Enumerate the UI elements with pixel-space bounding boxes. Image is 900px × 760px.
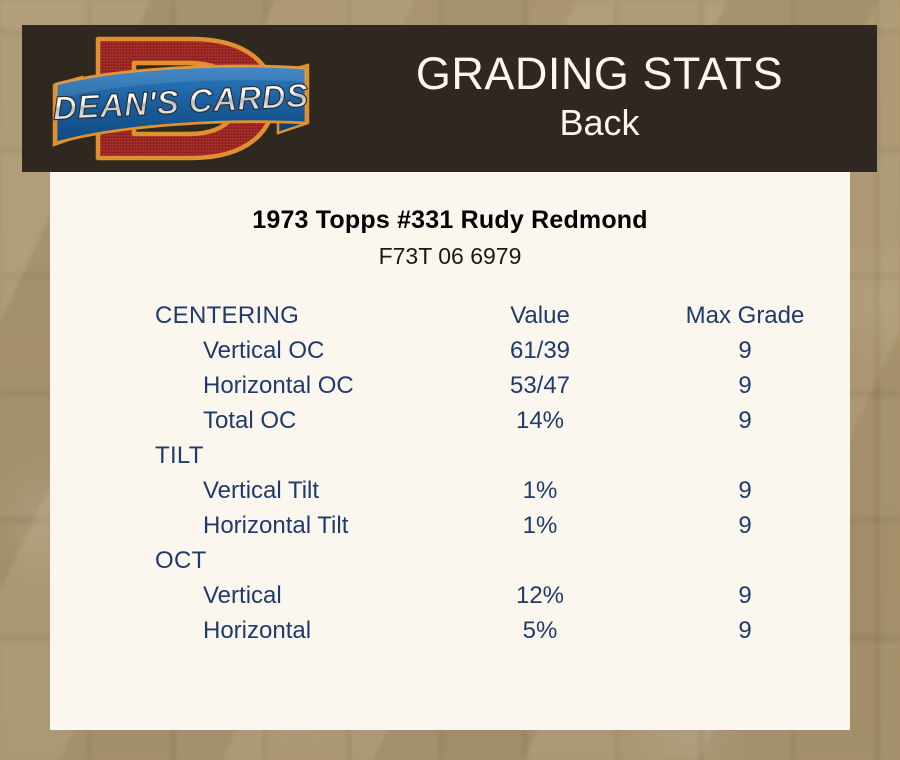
stats-section-title: CENTERING	[50, 298, 440, 333]
card-serial-number: F73T 06 6979	[50, 243, 850, 270]
stat-label: Vertical Tilt	[50, 473, 440, 508]
header-title-block: GRADING STATS Back	[322, 47, 877, 145]
stat-value: 1%	[440, 508, 640, 543]
stats-section-header-row: TILT	[50, 438, 850, 473]
stat-label: Vertical	[50, 578, 440, 613]
table-row: Vertical12%9	[50, 578, 850, 613]
stat-max-grade: 9	[640, 613, 850, 648]
stat-label: Vertical OC	[50, 333, 440, 368]
stat-value: 12%	[440, 578, 640, 613]
stats-column-header-max-grade	[640, 438, 850, 473]
deans-cards-logo[interactable]: DEAN'S CARDS	[42, 27, 317, 170]
stat-max-grade: 9	[640, 508, 850, 543]
stat-value: 53/47	[440, 368, 640, 403]
content-panel: 1973 Topps #331 Rudy Redmond F73T 06 697…	[50, 172, 850, 730]
stat-value: 5%	[440, 613, 640, 648]
table-row: Vertical Tilt1%9	[50, 473, 850, 508]
table-row: Total OC14%9	[50, 403, 850, 438]
stat-label: Horizontal	[50, 613, 440, 648]
stat-max-grade: 9	[640, 333, 850, 368]
stat-max-grade: 9	[640, 403, 850, 438]
stat-max-grade: 9	[640, 473, 850, 508]
page-subtitle: Back	[322, 101, 877, 145]
stat-label: Total OC	[50, 403, 440, 438]
grading-stats-table: CENTERINGValueMax GradeVertical OC61/399…	[50, 298, 850, 648]
stats-section-header-row: OCT	[50, 543, 850, 578]
table-row: Horizontal Tilt1%9	[50, 508, 850, 543]
stats-column-header-value	[440, 543, 640, 578]
table-row: Vertical OC61/399	[50, 333, 850, 368]
stat-value: 14%	[440, 403, 640, 438]
stat-value: 61/39	[440, 333, 640, 368]
table-row: Horizontal OC53/479	[50, 368, 850, 403]
page-title: GRADING STATS	[322, 47, 877, 101]
table-row: Horizontal5%9	[50, 613, 850, 648]
header-bar: DEAN'S CARDS GRADING STATS Back	[22, 25, 877, 172]
stats-column-header-value	[440, 438, 640, 473]
stats-column-header-value: Value	[440, 298, 640, 333]
stat-value: 1%	[440, 473, 640, 508]
stat-label: Horizontal OC	[50, 368, 440, 403]
stat-max-grade: 9	[640, 578, 850, 613]
grading-stats-body: CENTERINGValueMax GradeVertical OC61/399…	[50, 298, 850, 648]
card-title: 1973 Topps #331 Rudy Redmond	[50, 206, 850, 235]
stats-column-header-max-grade	[640, 543, 850, 578]
stat-label: Horizontal Tilt	[50, 508, 440, 543]
stats-column-header-max-grade: Max Grade	[640, 298, 850, 333]
stats-section-header-row: CENTERINGValueMax Grade	[50, 298, 850, 333]
stats-section-title: TILT	[50, 438, 440, 473]
stats-section-title: OCT	[50, 543, 440, 578]
stat-max-grade: 9	[640, 368, 850, 403]
